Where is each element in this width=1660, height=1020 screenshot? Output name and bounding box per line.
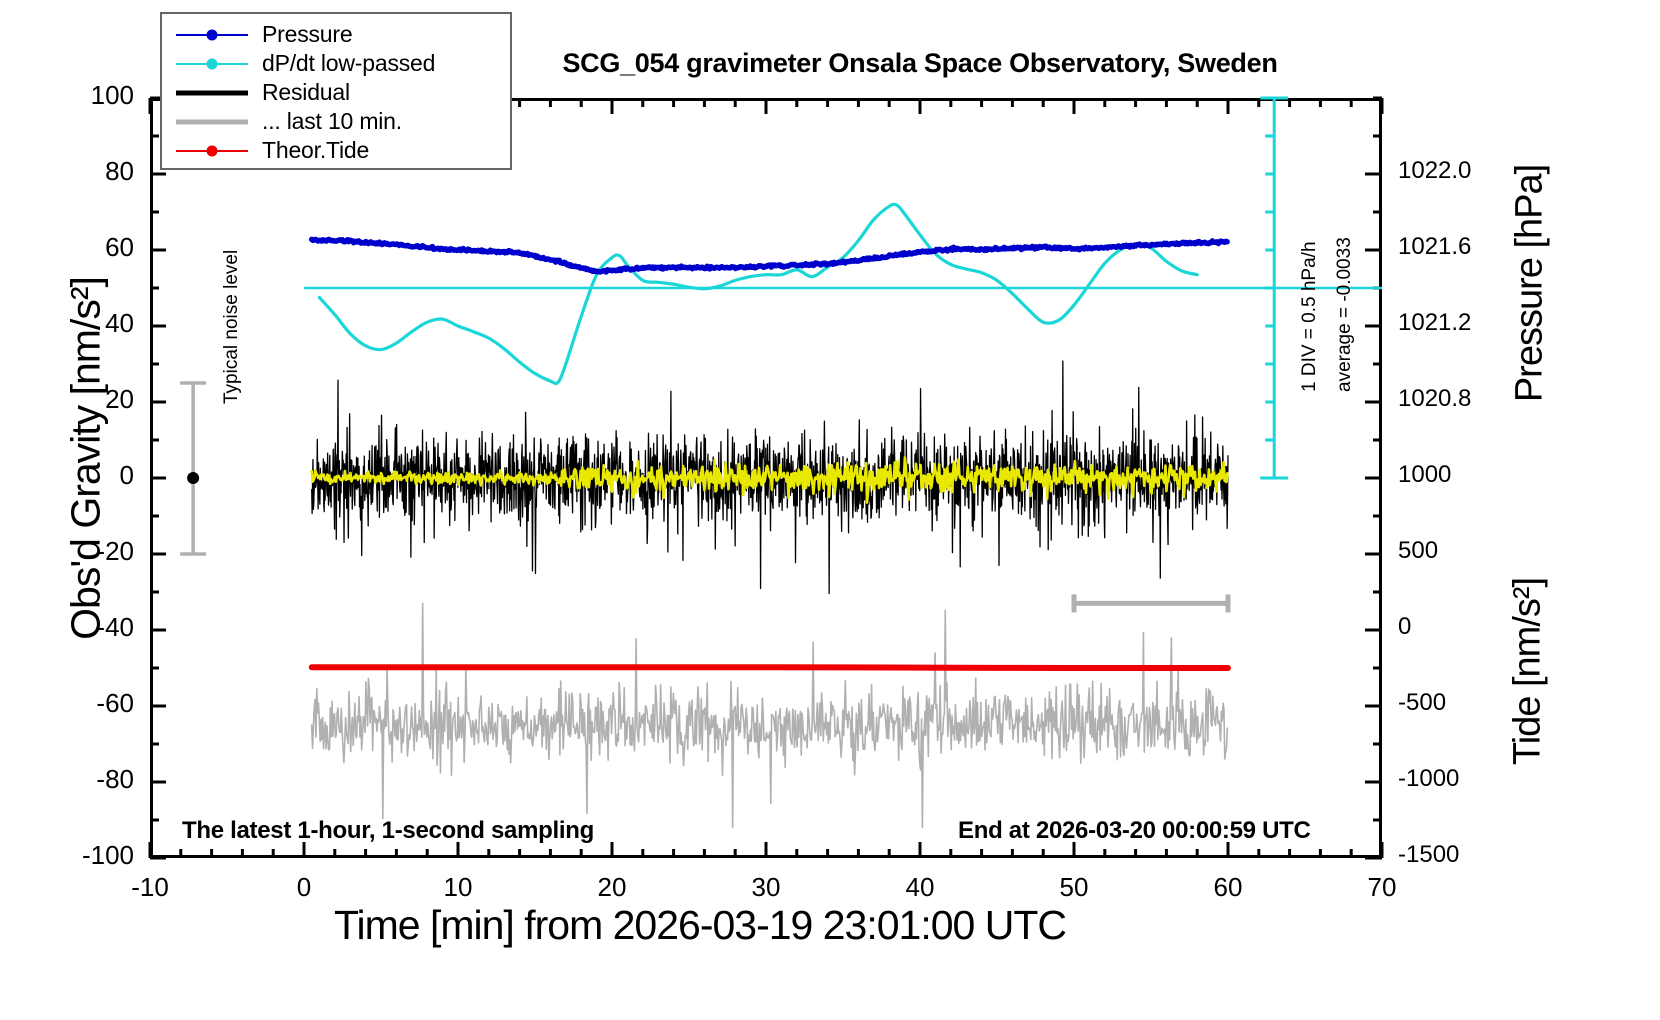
x-axis-title: Time [min] from 2026-03-19 23:01:00 UTC [0, 902, 1400, 949]
x-tick-label: 0 [259, 872, 349, 903]
plot-area [150, 98, 1382, 858]
legend-marker-dot [207, 58, 218, 69]
legend-item[interactable]: dP/dt low-passed [162, 49, 510, 78]
legend-line [176, 90, 248, 95]
legend: PressuredP/dt low-passedResidual... last… [160, 12, 512, 170]
x-tick-label: 10 [413, 872, 503, 903]
y-tick-label-left: 40 [105, 308, 134, 339]
y-tick-label-pressure: 1022.0 [1398, 157, 1471, 185]
y-axis-left-ticks: -100-80-60-40-20020406080100 [0, 0, 134, 1020]
noise-level-annotation: Typical noise level [221, 250, 243, 404]
dpdt-average-annotation: average = -0.0033 [1334, 237, 1356, 392]
y-tick-label-pressure: 1021.6 [1398, 233, 1471, 261]
legend-swatch [176, 141, 248, 161]
y-axis-right-ticks: 1020.81021.21021.61022.0-1000-5000500100… [1398, 0, 1578, 1020]
legend-marker-dot [207, 145, 218, 156]
y-tick-label-left: 0 [120, 460, 134, 491]
y-tick-label-tide: -500 [1398, 689, 1446, 717]
y-tick-label-left: -80 [96, 764, 134, 795]
legend-label: ... last 10 min. [262, 108, 402, 135]
page-title: SCG_054 gravimeter Onsala Space Observat… [420, 48, 1420, 79]
legend-line [176, 119, 248, 124]
legend-item[interactable]: Residual [162, 78, 510, 107]
x-tick-label: 60 [1183, 872, 1273, 903]
x-tick-label: 50 [1029, 872, 1119, 903]
y-tick-label-left: -20 [96, 536, 134, 567]
y-tick-label-left: 20 [105, 384, 134, 415]
dpdt-div-annotation: 1 DIV = 0.5 hPa/h [1299, 241, 1321, 392]
y-tick-label-tide: -1500 [1398, 841, 1459, 869]
y-tick-label-pressure: 1021.2 [1398, 309, 1471, 337]
y-tick-label-tide: -1000 [1398, 765, 1459, 793]
y-tick-label-left: 60 [105, 232, 134, 263]
y-tick-label-left: -60 [96, 688, 134, 719]
x-tick-label: 70 [1337, 872, 1427, 903]
x-tick-label: -10 [105, 872, 195, 903]
legend-label: Residual [262, 79, 350, 106]
x-tick-label: 40 [875, 872, 965, 903]
x-tick-label: 30 [721, 872, 811, 903]
legend-marker-dot [207, 29, 218, 40]
legend-swatch [176, 25, 248, 45]
legend-swatch [176, 112, 248, 132]
legend-item[interactable]: Theor.Tide [162, 136, 510, 165]
y-tick-label-left: 80 [105, 156, 134, 187]
footer-right-note: End at 2026-03-20 00:00:59 UTC [958, 817, 1311, 845]
legend-swatch [176, 83, 248, 103]
legend-label: Pressure [262, 21, 352, 48]
y-tick-label-pressure: 1020.8 [1398, 385, 1471, 413]
legend-label: dP/dt low-passed [262, 50, 435, 77]
footer-left-note: The latest 1-hour, 1-second sampling [182, 817, 594, 845]
y-tick-label-tide: 0 [1398, 613, 1411, 641]
y-tick-label-tide: 1000 [1398, 461, 1451, 489]
y-tick-label-left: -100 [82, 840, 134, 871]
y-tick-label-tide: 500 [1398, 537, 1438, 565]
legend-swatch [176, 54, 248, 74]
legend-label: Theor.Tide [262, 137, 369, 164]
y-tick-label-left: 100 [91, 80, 134, 111]
x-tick-label: 20 [567, 872, 657, 903]
legend-item[interactable]: ... last 10 min. [162, 107, 510, 136]
y-tick-label-left: -40 [96, 612, 134, 643]
chart-root: SCG_054 gravimeter Onsala Space Observat… [0, 0, 1660, 1020]
legend-item[interactable]: Pressure [162, 20, 510, 49]
